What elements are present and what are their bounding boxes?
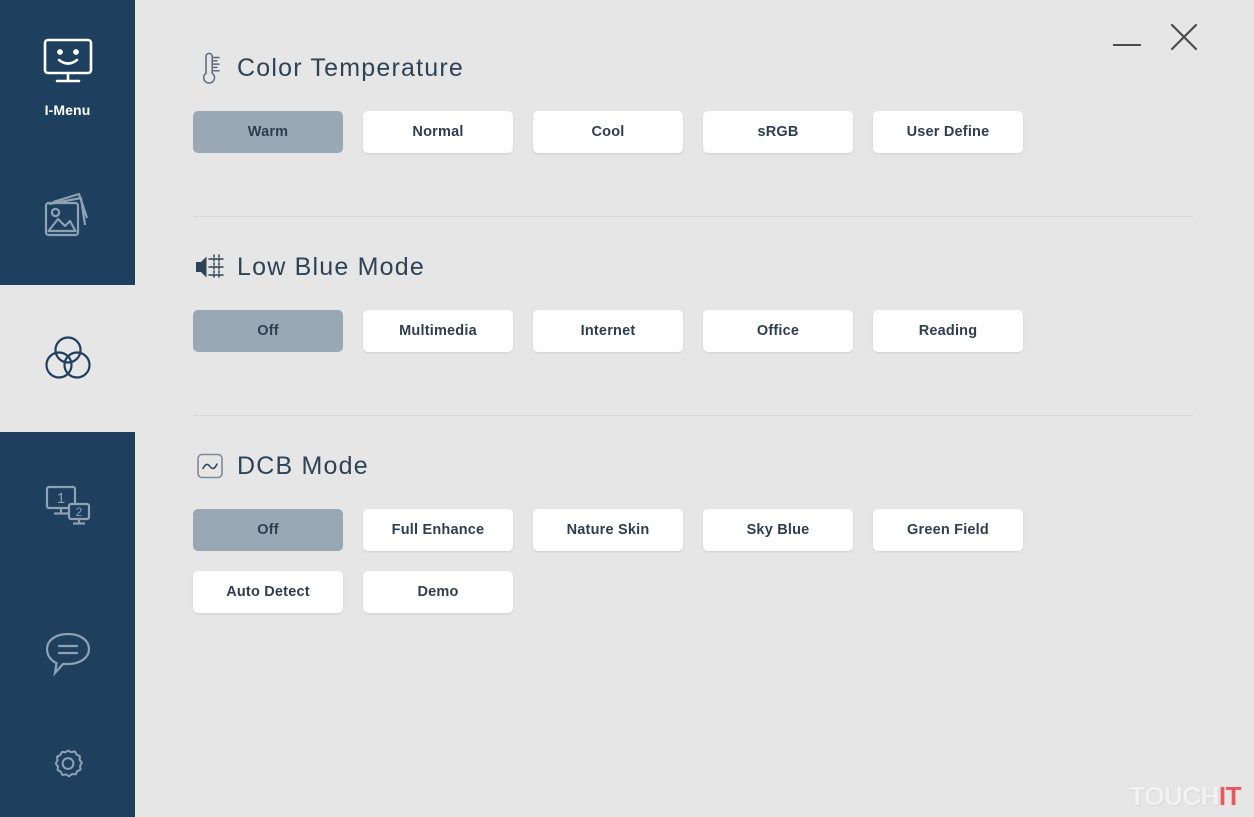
three-circles-icon (39, 332, 97, 386)
watermark: TOUCHIT (1129, 783, 1241, 809)
divider (193, 216, 1193, 217)
option-normal[interactable]: Normal (363, 111, 513, 153)
option-dcb-nature-skin[interactable]: Nature Skin (533, 509, 683, 551)
option-cool[interactable]: Cool (533, 111, 683, 153)
option-dcb-full-enhance[interactable]: Full Enhance (363, 509, 513, 551)
watermark-touch: TOUCH (1129, 781, 1218, 811)
option-dcb-sky-blue[interactable]: Sky Blue (703, 509, 853, 551)
sidebar-item-gallery[interactable] (0, 147, 135, 285)
section-header: DCB Mode (193, 442, 1198, 490)
sidebar: I-Menu (0, 0, 135, 817)
option-user-define[interactable]: User Define (873, 111, 1023, 153)
sidebar-item-multi-monitor[interactable]: 1 2 (0, 432, 135, 579)
blue-light-slider-icon (193, 250, 227, 284)
option-dcb-auto-detect[interactable]: Auto Detect (193, 571, 343, 613)
button-row-dcb-mode-2: Auto Detect Demo (193, 571, 1198, 613)
sidebar-item-imenu[interactable]: I-Menu (0, 0, 135, 147)
button-row-dcb-mode-1: Off Full Enhance Nature Skin Sky Blue Gr… (193, 509, 1198, 551)
gear-icon (48, 745, 88, 785)
option-warm[interactable]: Warm (193, 111, 343, 153)
thermometer-icon (193, 51, 227, 85)
sidebar-item-settings[interactable] (0, 727, 135, 817)
section-low-blue-mode: Low Blue Mode Off Multimedia Internet Of… (193, 243, 1198, 352)
page-title-low-blue-mode: Low Blue Mode (237, 253, 425, 282)
option-dcb-off[interactable]: Off (193, 509, 343, 551)
option-lowblue-multimedia[interactable]: Multimedia (363, 310, 513, 352)
svg-text:1: 1 (56, 490, 64, 507)
dual-monitor-icon: 1 2 (39, 479, 97, 533)
option-lowblue-internet[interactable]: Internet (533, 310, 683, 352)
option-srgb[interactable]: sRGB (703, 111, 853, 153)
button-row-color-temperature: Warm Normal Cool sRGB User Define (193, 111, 1198, 153)
section-header: Low Blue Mode (193, 243, 1198, 291)
photos-stack-icon (39, 189, 97, 243)
watermark-it: IT (1219, 781, 1241, 811)
sidebar-item-color[interactable] (0, 285, 135, 432)
option-dcb-demo[interactable]: Demo (363, 571, 513, 613)
page-title-dcb-mode: DCB Mode (237, 452, 369, 481)
option-lowblue-reading[interactable]: Reading (873, 310, 1023, 352)
monitor-smiley-icon (40, 37, 96, 89)
option-dcb-green-field[interactable]: Green Field (873, 509, 1023, 551)
speech-bubble-icon (39, 628, 97, 678)
sidebar-item-label-imenu: I-Menu (45, 102, 91, 118)
option-lowblue-off[interactable]: Off (193, 310, 343, 352)
section-color-temperature: Color Temperature Warm Normal Cool sRGB … (193, 44, 1198, 153)
sidebar-item-osd[interactable] (0, 579, 135, 727)
svg-text:2: 2 (75, 505, 82, 519)
button-row-low-blue-mode: Off Multimedia Internet Office Reading (193, 310, 1198, 352)
page-title-color-temperature: Color Temperature (237, 54, 464, 83)
main-content: Color Temperature Warm Normal Cool sRGB … (135, 0, 1254, 817)
section-dcb-mode: DCB Mode Off Full Enhance Nature Skin Sk… (193, 442, 1198, 613)
section-header: Color Temperature (193, 44, 1198, 92)
waveform-square-icon (193, 449, 227, 483)
divider (193, 415, 1193, 416)
option-lowblue-office[interactable]: Office (703, 310, 853, 352)
